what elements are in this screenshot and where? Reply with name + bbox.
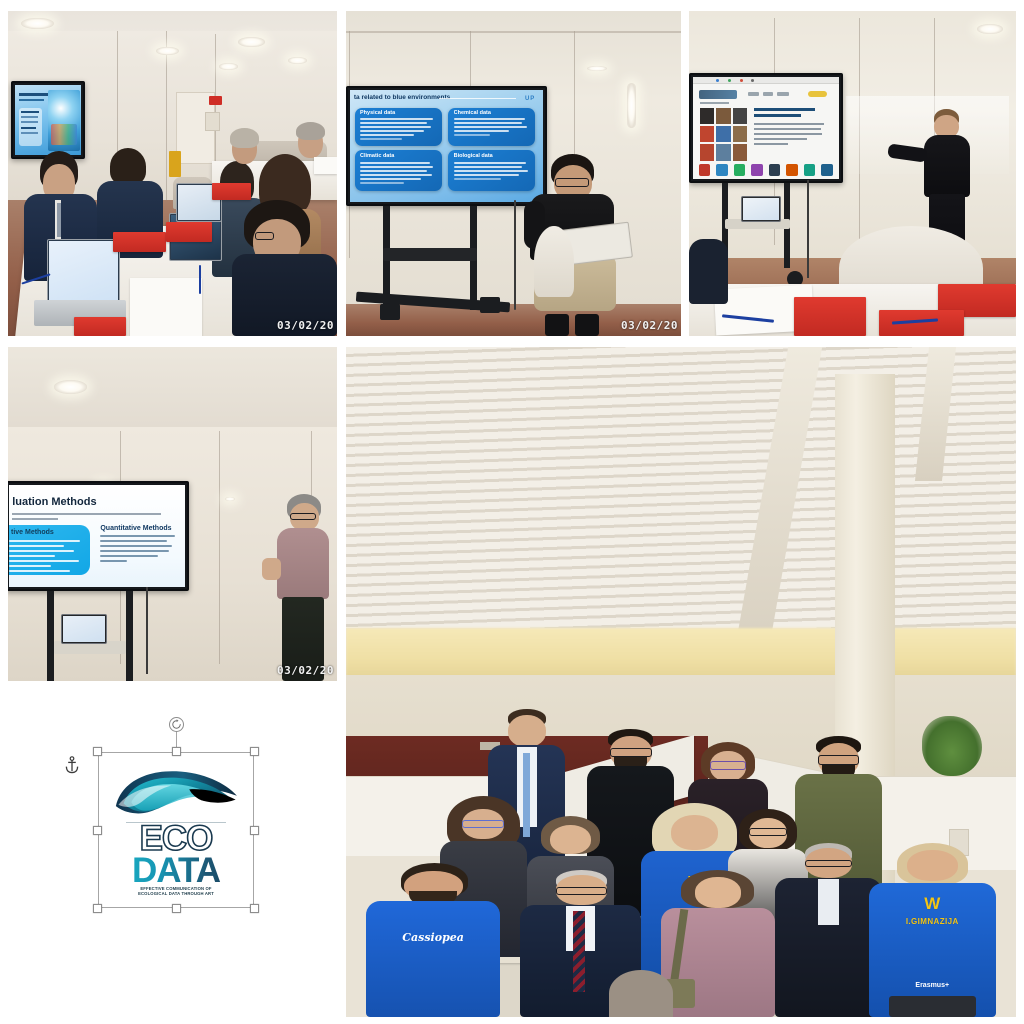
slide-title: ta related to blue environments (354, 94, 450, 101)
qualitative-heading: tive Methods (11, 529, 54, 536)
site-nav-item (777, 92, 789, 96)
wall-seam (219, 431, 220, 665)
browser-toolbar (693, 77, 839, 84)
wall-seam (166, 31, 167, 213)
wall-band (346, 31, 681, 33)
shoe (575, 314, 599, 336)
card-heading: Biological data (454, 153, 530, 159)
gallery-thumb (733, 108, 747, 124)
group-member-partial (601, 970, 681, 1017)
resize-handle-s[interactable] (172, 904, 181, 913)
ceiling-light (238, 37, 264, 47)
card-heading: Climatic data (360, 153, 436, 159)
gallery-thumb (716, 144, 730, 160)
ceiling-light (21, 18, 54, 29)
glasses (555, 178, 589, 187)
torso (689, 239, 728, 304)
group-member-cassiopea-hoodie: Cassiopea (366, 863, 500, 1017)
slide-card-chemical: Chemical data (448, 108, 535, 146)
head (671, 815, 718, 850)
laptop-screen (743, 198, 778, 220)
selection-outline (98, 752, 254, 908)
quantitative-column: Quantitative Methods (100, 525, 178, 565)
glasses (290, 513, 316, 520)
shoe (545, 314, 569, 336)
glasses (610, 748, 652, 757)
website-presentation-scene (689, 11, 1016, 336)
person (689, 239, 728, 304)
site-cta-button (808, 91, 827, 97)
glasses (556, 887, 607, 894)
resize-handle-w[interactable] (93, 826, 102, 835)
card-body (454, 118, 530, 143)
torso (277, 528, 329, 599)
red-folder (212, 183, 251, 199)
screen-stand-foot (480, 297, 500, 313)
wall-box (205, 112, 220, 132)
standing-presenter (268, 494, 337, 681)
resize-handle-nw[interactable] (93, 747, 102, 756)
person-foreground (232, 200, 337, 337)
hair (296, 122, 325, 141)
screen-cable (807, 180, 809, 278)
slatted-ceiling (346, 347, 1016, 628)
card-body (454, 162, 530, 189)
site-nav-item (748, 92, 758, 96)
slide-evaluation-methods: luation Methods tive Methods (9, 485, 185, 587)
photo-presenter-seated[interactable]: ta related to blue environments UP Physi… (346, 11, 681, 336)
necktie (573, 911, 585, 992)
anchor-icon (64, 756, 80, 774)
resize-handle-se[interactable] (250, 904, 259, 913)
selected-image-object[interactable]: ECO DATA EFFECTIVE COMMUNICATION OF ECOL… (98, 752, 254, 908)
gallery-thumb (733, 126, 747, 142)
slide-title: luation Methods (12, 496, 96, 508)
card-body (360, 118, 436, 143)
site-gallery (700, 108, 747, 161)
card-body (360, 162, 436, 189)
screen-content (15, 85, 81, 155)
cove-lighting (346, 628, 1016, 682)
screen-stand-shelf (383, 248, 477, 261)
document (130, 278, 202, 337)
stand-laptop (741, 196, 780, 222)
partner-logo (734, 164, 746, 176)
group-member-woman-gimnazija-sweatshirt: W I.GIMNAZIJA Erasmus+ (869, 843, 996, 1017)
rotate-handle[interactable] (169, 717, 184, 732)
site-article-text (754, 108, 830, 145)
partner-logo (821, 164, 833, 176)
photo-meeting-room[interactable]: 03/02/20 (8, 11, 337, 336)
gallery-thumb (700, 144, 714, 160)
document-page: 03/02/20 ta related to blue environments… (0, 0, 1024, 1024)
document (314, 157, 337, 173)
screen-stand-pole (47, 591, 54, 681)
hair (609, 970, 673, 1017)
quantitative-heading: Quantitative Methods (100, 525, 178, 532)
screen-stand-pole (126, 591, 133, 681)
red-folder (794, 297, 866, 336)
laptop-screen (63, 616, 105, 642)
gallery-thumb (733, 144, 747, 160)
site-nav-item (763, 92, 773, 96)
resize-handle-e[interactable] (250, 826, 259, 835)
slide-card-climatic: Climatic data (355, 150, 442, 190)
site-partner-logos (699, 166, 833, 174)
ceiling-light (288, 57, 308, 64)
rotate-icon (171, 719, 182, 730)
photo-datestamp: 03/02/20 (277, 319, 334, 332)
screen-content (693, 77, 839, 180)
photo-datestamp: 03/02/20 (621, 319, 678, 332)
red-folder (113, 232, 166, 252)
gallery-thumb (700, 108, 714, 124)
partner-logo (716, 164, 728, 176)
glasses (818, 755, 860, 765)
stand-laptop (61, 614, 107, 644)
gallery-thumb (716, 108, 730, 124)
glasses (710, 761, 745, 770)
laptop (47, 239, 119, 304)
red-folder (74, 317, 127, 337)
photo-presenter-evaluation[interactable]: luation Methods tive Methods (8, 347, 337, 681)
partner-logo (769, 164, 781, 176)
slide-rule (439, 98, 516, 99)
sweatshirt-logo: W (869, 895, 996, 912)
screen-stand-foot (380, 304, 400, 320)
card-heading: Chemical data (454, 110, 530, 116)
hair (110, 148, 146, 186)
photo-datestamp: 03/02/20 (277, 664, 334, 677)
resize-handle-ne[interactable] (250, 747, 259, 756)
meeting-room-scene (8, 11, 337, 336)
evaluation-scene: luation Methods tive Methods (8, 347, 337, 681)
screen-cable (514, 200, 516, 311)
screen-content: luation Methods tive Methods (9, 485, 185, 587)
presentation-screen: ta related to blue environments UP Physi… (346, 86, 547, 206)
head (550, 825, 592, 854)
ceiling-light (977, 24, 1003, 34)
chair (534, 226, 574, 298)
slide-badge: UP (525, 96, 535, 102)
dress-shirt (818, 879, 839, 924)
partner-logo (751, 164, 763, 176)
partner-logo (786, 164, 798, 176)
screen-content: ta related to blue environments UP Physi… (350, 90, 543, 202)
slide-card-biological: Biological data (448, 150, 535, 190)
hoodie-text: Cassiopea (366, 931, 500, 944)
photo-presenter-standing-website[interactable] (689, 11, 1016, 336)
browser-tab-dot (728, 79, 731, 82)
wall-screen (11, 81, 85, 159)
site-logo (699, 90, 737, 99)
glasses (749, 828, 788, 835)
presentation-screen (689, 73, 843, 184)
gallery-thumb (716, 126, 730, 142)
red-folder (166, 222, 212, 242)
resize-handle-sw[interactable] (93, 904, 102, 913)
glasses (462, 820, 504, 828)
hair (230, 128, 259, 148)
head (508, 715, 547, 747)
laptop-screen (49, 241, 117, 302)
sweatshirt-text: I.GIMNAZIJA (869, 918, 996, 926)
head (695, 877, 741, 908)
card-heading: Physical data (360, 110, 436, 116)
lobby-scene: W I.GIMNAZIJA Cassiopea (346, 347, 1016, 1017)
group-member-man-grey-hair (775, 843, 882, 1017)
gesturing-hand (262, 558, 281, 580)
presentation-screen: luation Methods tive Methods (8, 481, 189, 591)
bin (169, 151, 181, 177)
qualitative-card: tive Methods (9, 525, 90, 574)
browser-tab-dot (740, 79, 743, 82)
head (907, 850, 958, 881)
partner-logo (699, 164, 711, 176)
website-screenshot (693, 77, 839, 180)
partner-logo (804, 164, 816, 176)
slide-blue-environments: ta related to blue environments UP Physi… (350, 90, 543, 202)
screen-cable (146, 587, 148, 674)
glasses (255, 232, 274, 240)
exit-sign (209, 96, 222, 106)
site-subnav (700, 102, 729, 104)
legs (889, 996, 976, 1017)
erasmus-logo-text: Erasmus+ (869, 982, 996, 989)
photo-group-lobby[interactable]: W I.GIMNAZIJA Cassiopea (346, 347, 1016, 1017)
ceiling-light (54, 380, 87, 393)
hoodie: Cassiopea (366, 901, 500, 1017)
person (225, 128, 264, 180)
glasses (805, 860, 852, 867)
gallery-thumb (700, 126, 714, 142)
slide-card-physical: Physical data (355, 108, 442, 146)
torso (924, 135, 970, 197)
resize-handle-n[interactable] (172, 747, 181, 756)
wall-glare (627, 83, 635, 129)
pen (199, 265, 201, 294)
presenter-room-scene: ta related to blue environments UP Physi… (346, 11, 681, 336)
slide-subtitle (12, 513, 174, 520)
